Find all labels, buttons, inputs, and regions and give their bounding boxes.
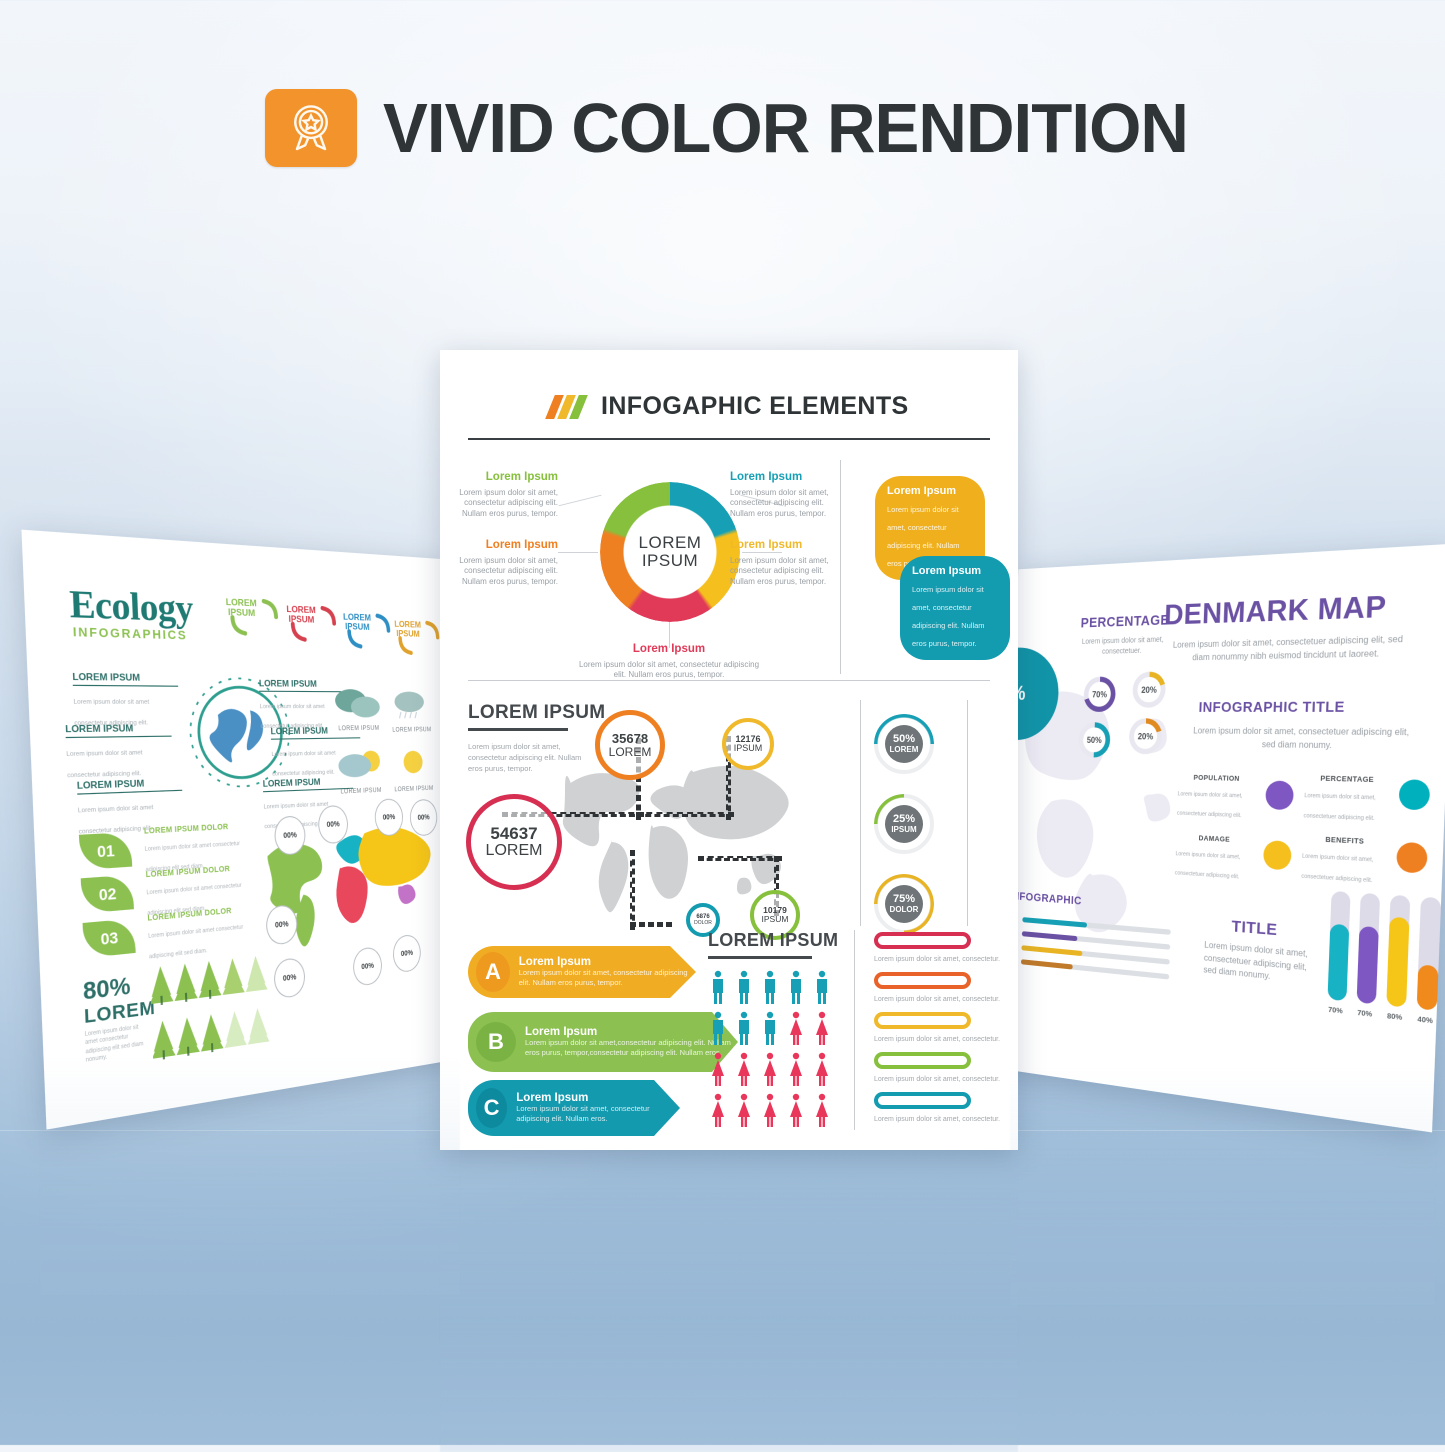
center-page-title: INFOGAPHIC ELEMENTS	[601, 392, 909, 421]
infographic-title-heading: INFOGRAPHIC TITLE	[1198, 698, 1345, 715]
person-female-icon	[760, 1052, 780, 1086]
map-bubble-35678: 35678 LOREM	[595, 710, 665, 780]
legend-item-population: POPULATION Lorem ipsum dolor sit amet, c…	[1177, 774, 1256, 823]
eco-stat-body: Lorem ipsum dolor sit amet consectetur a…	[85, 1023, 145, 1065]
person-female-icon	[786, 1052, 806, 1086]
dashed-line-5	[630, 850, 635, 930]
sun-icon: LOREM IPSUM	[392, 746, 435, 793]
person-female-icon	[786, 1011, 806, 1045]
vgauge-4	[1417, 897, 1442, 1011]
banner-b[interactable]: B Lorem Ipsum Lorem ipsum dolor sit amet…	[468, 1012, 738, 1072]
legend-dot-damage	[1263, 840, 1292, 870]
dashed-line-6	[630, 922, 672, 927]
person-female-icon	[812, 1093, 832, 1127]
donut-label-2: Lorem Ipsum Lorem ipsum dolor sit amet, …	[730, 470, 842, 520]
legend-item-benefits: BENEFITS Lorem ipsum dolor sit amet, con…	[1301, 835, 1388, 888]
pill-3	[874, 1012, 971, 1029]
person-female-icon	[786, 1093, 806, 1127]
divider-vertical-rings-left	[860, 700, 861, 926]
page-title: VIVID COLOR RENDITION	[383, 88, 1188, 168]
banner-a[interactable]: A Lorem Ipsum Lorem ipsum dolor sit amet…	[468, 946, 696, 998]
pill-4	[874, 1052, 971, 1069]
ecology-subtitle: INFOGRAPHICS	[73, 626, 188, 643]
map-bubble-54637: 54637 LOREM	[466, 794, 562, 890]
vgauge-label-4: 40%	[1417, 1016, 1433, 1026]
person-female-icon	[734, 1093, 754, 1127]
award-badge-icon	[265, 89, 357, 167]
denmark-map-title: DENMARK MAP	[1164, 589, 1387, 632]
clouds-icon: LOREM IPSUM	[332, 687, 384, 733]
legend-dot-percentage	[1398, 779, 1430, 810]
leaf-number-02: 02	[81, 875, 134, 914]
eco-map-bubble-6: 00%	[273, 957, 305, 999]
pill-text-5: Lorem ipsum dolor sit amet, consectetur.	[874, 1116, 1014, 1123]
dashed-line-7	[698, 856, 782, 861]
recycle-badge-4: LOREM IPSUM	[394, 620, 421, 639]
person-male-icon	[760, 1011, 780, 1045]
person-female-icon	[734, 1052, 754, 1086]
banner-c[interactable]: C Lorem Ipsum Lorem ipsum dolor sit amet…	[468, 1080, 680, 1136]
rain-cloud-icon: LOREM IPSUM	[390, 689, 433, 733]
banner-b-letter: B	[476, 1022, 516, 1062]
dashed-line-2	[636, 812, 734, 817]
eco-callout-2: LOREM IPSUM Lorem ipsum dolor sit amet c…	[65, 722, 173, 783]
donut-chart: LOREM IPSUM	[600, 482, 740, 622]
person-female-icon	[708, 1052, 728, 1086]
progress-ring-75-hub: 75% DOLOR	[885, 885, 923, 923]
donut-label-1: Lorem Ipsum Lorem ipsum dolor sit amet, …	[446, 470, 558, 520]
pill-5	[874, 1092, 971, 1109]
person-female-icon	[760, 1093, 780, 1127]
legend-item-damage: DAMAGE Lorem ipsum dolor sit amet, conse…	[1175, 834, 1254, 885]
recycle-badge-2: LOREM IPSUM	[286, 604, 316, 624]
vgauge-label-3: 80%	[1387, 1013, 1402, 1023]
donut-center-label: LOREM IPSUM	[600, 482, 740, 622]
person-female-icon	[812, 1052, 832, 1086]
map-section-rule	[468, 728, 568, 731]
divider-vertical-bottom	[854, 930, 855, 1130]
pill-text-1: Lorem ipsum dolor sit amet, consectetur.	[874, 956, 1014, 963]
infographic-title-body: Lorem ipsum dolor sit amet, consectetuer…	[1187, 725, 1416, 753]
pill-1	[874, 932, 971, 949]
rounded-card-2[interactable]: Lorem Ipsum Lorem ipsum dolor sit amet, …	[900, 556, 1010, 660]
donut-label-4: Lorem Ipsum Lorem ipsum dolor sit amet, …	[730, 538, 842, 588]
progress-ring-75: 75% DOLOR	[874, 874, 934, 934]
pill-text-3: Lorem ipsum dolor sit amet, consectetur.	[874, 1036, 1014, 1043]
person-female-icon	[708, 1093, 728, 1127]
vgauge-3	[1386, 895, 1410, 1008]
tree-pictogram	[149, 952, 277, 1073]
progress-ring-50: 50% LOREM	[874, 714, 934, 774]
page-header: VIVID COLOR RENDITION	[265, 88, 1221, 168]
person-male-icon	[812, 970, 832, 1004]
recycle-badge-1: LOREM IPSUM	[226, 597, 258, 618]
vgauge-label-1: 70%	[1328, 1006, 1343, 1015]
eco-map-bubble-8: 00%	[392, 934, 421, 974]
leaf-number-01: 01	[79, 832, 132, 870]
people-pictogram	[708, 970, 832, 1127]
divider-vertical-rings-right	[967, 700, 968, 926]
center-title-row: INFOGAPHIC ELEMENTS	[550, 392, 909, 421]
legend-dot-benefits	[1396, 842, 1428, 874]
right-brochure-page[interactable]: % DENMARK MAP Lorem ipsum dolor sit amet…	[1002, 544, 1445, 1133]
recycle-badge-3: LOREM IPSUM	[343, 612, 371, 632]
banner-c-letter: C	[476, 1088, 507, 1128]
legend-dot-population	[1265, 780, 1294, 810]
person-male-icon	[760, 970, 780, 1004]
percentage-body: Lorem ipsum dolor sit amet, consectetuer…	[1070, 635, 1175, 659]
person-male-icon	[786, 970, 806, 1004]
vgauge-label-2: 70%	[1357, 1009, 1372, 1019]
donut-label-5: Lorem Ipsum Lorem ipsum dolor sit amet, …	[574, 642, 764, 681]
pictogram-title: LOREM IPSUM	[708, 930, 838, 951]
left-brochure-page[interactable]: Ecology INFOGRAPHICS LOREM IPSUM LOREM I…	[21, 530, 460, 1130]
leaf-number-03: 03	[83, 918, 136, 958]
person-male-icon	[734, 970, 754, 1004]
sun-cloud-icon: LOREM IPSUM	[334, 747, 386, 796]
legend-item-percentage: PERCENTAGE Lorem ipsum dolor sit amet, c…	[1303, 775, 1390, 827]
person-male-icon	[734, 1011, 754, 1045]
center-brochure-page[interactable]: INFOGAPHIC ELEMENTS LOREM IPSUM Lorem Ip…	[440, 350, 1018, 1150]
map-section-title: LOREM IPSUM	[468, 702, 605, 724]
progress-ring-50-hub: 50% LOREM	[885, 725, 923, 763]
person-female-icon	[812, 1011, 832, 1045]
map-bubble-12176: 12176 IPSUM	[722, 718, 774, 770]
eco-map-bubble-7: 00%	[352, 946, 382, 987]
ecology-title: Ecology	[69, 583, 194, 632]
percentage-heading: PERCENTAGE	[1081, 612, 1170, 631]
chart-body: Lorem ipsum dolor sit amet, consectetuer…	[1203, 939, 1309, 987]
donut-label-3: Lorem Ipsum Lorem ipsum dolor sit amet, …	[446, 538, 558, 588]
title-underline	[468, 438, 990, 440]
person-male-icon	[708, 970, 728, 1004]
progress-ring-25-hub: 25% IPSUM	[885, 805, 923, 843]
pill-2	[874, 972, 971, 989]
center-page-reflection	[440, 1152, 1018, 1452]
vgauge-1	[1327, 891, 1350, 1001]
vgauge-2	[1357, 893, 1381, 1005]
progress-ring-25: 25% IPSUM	[874, 794, 934, 854]
pill-text-4: Lorem ipsum dolor sit amet, consectetur.	[874, 1076, 1014, 1083]
denmark-intro-text: Lorem ipsum dolor sit amet, consectetuer…	[1165, 632, 1413, 664]
banner-a-letter: A	[476, 952, 510, 992]
pictogram-rule	[708, 956, 812, 959]
pill-text-2: Lorem ipsum dolor sit amet, consectetur.	[874, 996, 1014, 1003]
slash-logo-icon	[550, 395, 583, 419]
person-male-icon	[708, 1011, 728, 1045]
chart-title: TITLE	[1231, 917, 1277, 939]
